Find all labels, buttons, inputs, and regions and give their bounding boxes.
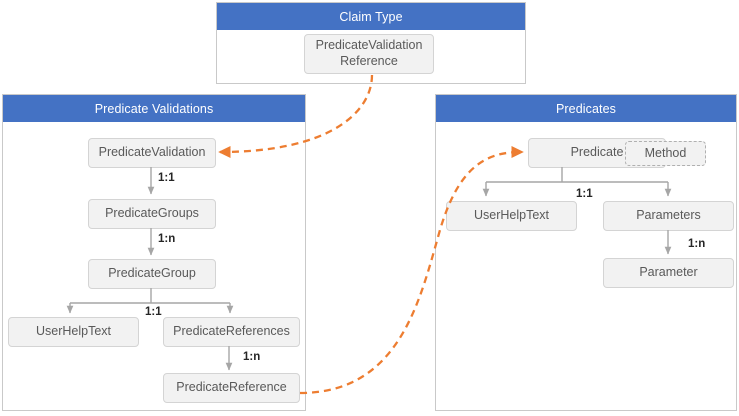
node-predicate-validation[interactable]: PredicateValidation xyxy=(88,138,216,168)
label-predicate-to-children: 1:1 xyxy=(576,188,593,200)
node-predicate-groups[interactable]: PredicateGroups xyxy=(88,199,216,229)
label-references-to-reference: 1:n xyxy=(243,351,260,363)
node-method[interactable]: Method xyxy=(625,141,706,166)
label-parameters-to-parameter: 1:n xyxy=(688,238,705,250)
node-user-help-text-validations[interactable]: UserHelpText xyxy=(8,317,139,347)
panel-predicate-validations-header: Predicate Validations xyxy=(3,95,305,122)
diagram-canvas: Claim Type PredicateValidation Reference… xyxy=(0,0,739,416)
node-parameter[interactable]: Parameter xyxy=(603,258,734,288)
node-user-help-text-predicates[interactable]: UserHelpText xyxy=(446,201,577,231)
node-predicate-reference[interactable]: PredicateReference xyxy=(163,373,300,403)
panel-predicates-header: Predicates xyxy=(436,95,736,122)
node-predicate-validation-reference[interactable]: PredicateValidation Reference xyxy=(304,34,434,74)
panel-predicate-validations: Predicate Validations PredicateValidatio… xyxy=(2,94,306,411)
node-parameters[interactable]: Parameters xyxy=(603,201,734,231)
node-predicate-group[interactable]: PredicateGroup xyxy=(88,259,216,289)
panel-predicates: Predicates Predicate Method UserHelpText… xyxy=(435,94,737,411)
panel-claim-type-header: Claim Type xyxy=(217,3,525,30)
node-predicate-references[interactable]: PredicateReferences xyxy=(163,317,300,347)
panel-claim-type: Claim Type PredicateValidation Reference xyxy=(216,2,526,84)
label-validation-to-groups: 1:1 xyxy=(158,172,175,184)
label-group-to-children: 1:1 xyxy=(145,306,162,318)
label-groups-to-group: 1:n xyxy=(158,233,175,245)
